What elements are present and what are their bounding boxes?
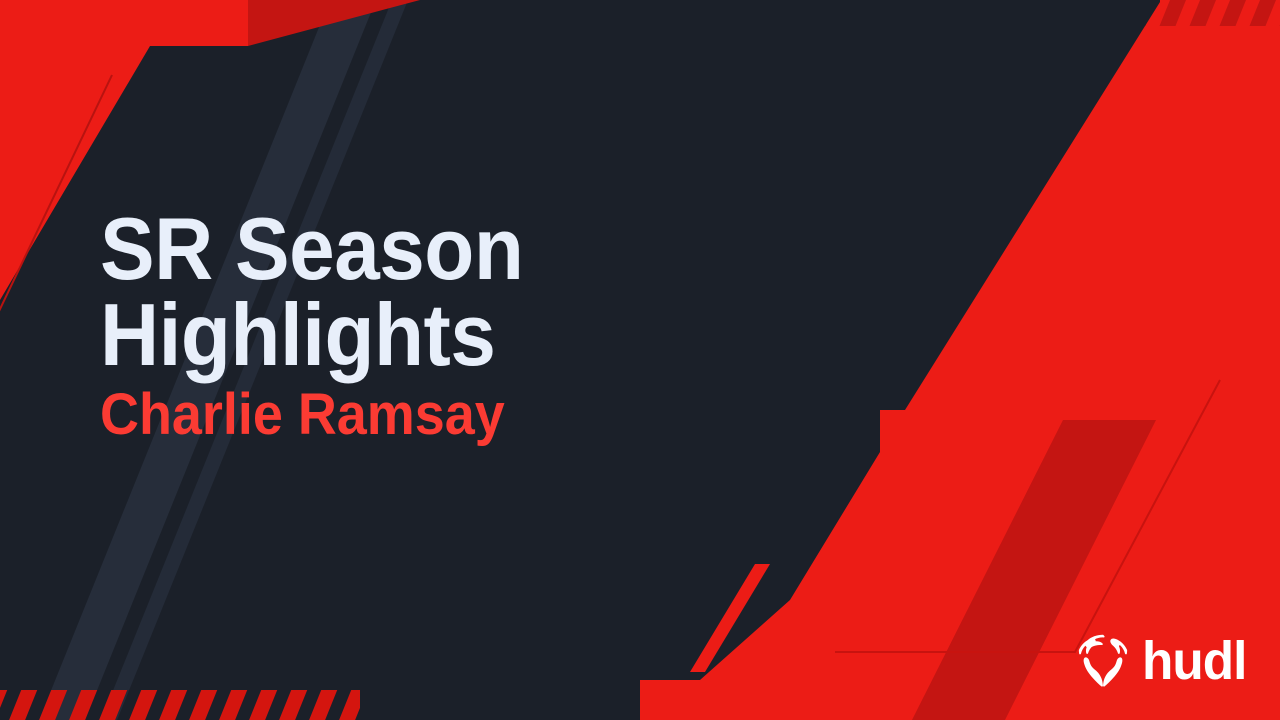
page-title-line-2: Highlights bbox=[100, 292, 677, 378]
hudl-logo-lockup: hudl bbox=[1074, 632, 1252, 690]
page-title-line-1: SR Season bbox=[100, 206, 677, 292]
hudl-shield-icon bbox=[1074, 632, 1132, 690]
title-text-block: SR Season Highlights Charlie Ramsay bbox=[100, 206, 720, 444]
athlete-name-subtitle: Charlie Ramsay bbox=[100, 386, 677, 444]
hudl-highlight-title-card: SR Season Highlights Charlie Ramsay hudl bbox=[0, 0, 1280, 720]
hudl-wordmark: hudl bbox=[1142, 634, 1246, 688]
